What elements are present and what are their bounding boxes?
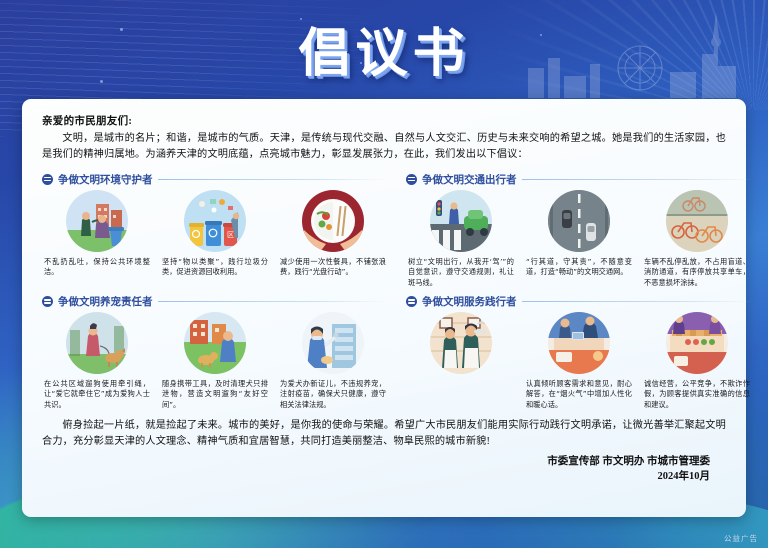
list-item[interactable]: 车辆不乱停乱放，不占用盲道、消防通道，有序停放共享单车，不恶意损坏涂抹。 [642, 190, 752, 288]
list-item[interactable] [406, 312, 516, 410]
park-litter-bin-icon [66, 190, 128, 252]
item-caption: 诚信经营，公平竞争，不欺诈作假，为顾客提供真实准确的信息和建议。 [644, 379, 750, 410]
item-caption: 为爱犬办新证儿，不违规养宠，注射疫苗，确保犬只健康，遵守相关法律法规。 [280, 379, 386, 410]
restaurant-staff-icon [430, 312, 492, 374]
list-item[interactable]: 随身携带工具，及时清理犬只排泄物，营造文明遛狗“友好空间”。 [160, 312, 270, 410]
item-caption: 坚持“物以类聚”，践行垃圾分类，促进资源回收利用。 [162, 257, 268, 278]
section-divider [158, 179, 389, 180]
dog-leash-walk-icon [66, 312, 128, 374]
item-caption: 减少使用一次性餐具，不铺张浪费，践行“光盘行动”。 [280, 257, 386, 278]
list-item[interactable]: 树立“文明出行，从我开‘驾’”的自觉意识，遵守交通规则，礼让斑马线。 [406, 190, 516, 288]
salutation: 亲爱的市民朋友们: [42, 113, 726, 128]
section-divider [158, 301, 389, 302]
clean-plate-icon [302, 190, 364, 252]
list-item[interactable]: 在公共区域遛狗使用牵引绳，让“爱它就牵住它”成为爱狗人士共识。 [42, 312, 152, 410]
section-header: 争做文明环境守护者 [42, 172, 388, 187]
list-item[interactable]: 诚信经营，公平竞争，不欺诈作假，为顾客提供真实准确的信息和建议。 [642, 312, 752, 410]
parked-bicycles-icon [666, 190, 728, 252]
section-service: 争做文明服务践行者 [406, 294, 752, 410]
section-divider [522, 179, 753, 180]
list-item[interactable]: 区 坚持“物以类聚”，践行垃圾分类，促进资源回收利用。 [160, 190, 270, 278]
section-title: 争做文明交通出行者 [422, 172, 517, 187]
list-badge-icon [406, 296, 417, 307]
poster-background: 倡议书 亲爱的市民朋友们: 文明，是城市的名片；和谐，是城市的气质。天津，是传统… [0, 0, 768, 548]
list-item[interactable]: 不乱扔乱吐，保持公共环境整洁。 [42, 190, 152, 278]
list-badge-icon [42, 174, 53, 185]
section-items: 认真倾听顾客需求和意见，耐心解答，在“烟火气”中增加人性化和暖心话。 [406, 312, 752, 410]
list-item[interactable]: 为爱犬办新证儿，不违规养宠，注射疫苗，确保犬只健康，遵守相关法律法规。 [278, 312, 388, 410]
list-badge-icon [406, 174, 417, 185]
content-card: 亲爱的市民朋友们: 文明，是城市的名片；和谐，是城市的气质。天津，是传统与现代交… [22, 99, 746, 517]
section-title: 争做文明服务践行者 [422, 294, 517, 309]
list-item[interactable]: “行其道，守其责”，不随意变道，打造“畅动”的文明交通网。 [524, 190, 634, 288]
honest-market-stall-icon [666, 312, 728, 374]
section-title: 争做文明养宠责任者 [58, 294, 153, 309]
closing-paragraph: 俯身捡起一片纸，就是捡起了未来。城市的美好，是你我的使命与荣耀。希望广大市民朋友… [42, 418, 726, 450]
crosswalk-car-icon [430, 190, 492, 252]
section-items: 在公共区域遛狗使用牵引绳，让“爱它就牵住它”成为爱狗人士共识。 [42, 312, 388, 410]
section-traffic: 争做文明交通出行者 [406, 172, 752, 288]
section-pets: 争做文明养宠责任者 [42, 294, 388, 410]
signature-organizations: 市委宣传部 市文明办 市城市管理委 [42, 454, 710, 469]
section-title: 争做文明环境守护者 [58, 172, 153, 187]
list-item[interactable]: 减少使用一次性餐具，不铺张浪费，践行“光盘行动”。 [278, 190, 388, 278]
section-environment: 争做文明环境守护者 [42, 172, 388, 288]
intro-paragraph: 文明，是城市的名片；和谐，是城市的气质。天津，是传统与现代交融、自然与人文交汇、… [42, 131, 726, 163]
road-lanes-icon [548, 190, 610, 252]
item-caption: 不乱扔乱吐，保持公共环境整洁。 [44, 257, 150, 278]
item-caption: “行其道，守其责”，不随意变道，打造“畅动”的文明交通网。 [526, 257, 632, 278]
item-caption: 认真倾听顾客需求和意见，耐心解答，在“烟火气”中增加人性化和暖心话。 [526, 379, 632, 410]
public-service-ad-note: 公益广告 [724, 533, 758, 544]
title-banner: 倡议书 [0, 8, 768, 88]
item-caption: 车辆不乱停乱放，不占用盲道、消防通道，有序停放共享单车，不恶意损坏涂抹。 [644, 257, 750, 288]
poster-title: 倡议书 [298, 11, 469, 86]
recycling-bins-icon: 区 [184, 190, 246, 252]
customer-service-desk-icon [548, 312, 610, 374]
svg-text:区: 区 [227, 231, 234, 239]
section-items: 树立“文明出行，从我开‘驾’”的自觉意识，遵守交通规则，礼让斑马线。 [406, 190, 752, 288]
item-caption: 树立“文明出行，从我开‘驾’”的自觉意识，遵守交通规则，礼让斑马线。 [408, 257, 514, 288]
sections-grid: 争做文明环境守护者 [42, 172, 726, 411]
dog-vaccination-icon [302, 312, 364, 374]
section-header: 争做文明服务践行者 [406, 294, 752, 309]
section-divider [522, 301, 753, 302]
item-caption: 随身携带工具，及时清理犬只排泄物，营造文明遛狗“友好空间”。 [162, 379, 268, 410]
section-header: 争做文明交通出行者 [406, 172, 752, 187]
signature-block: 市委宣传部 市文明办 市城市管理委 2024年10月 [42, 454, 726, 484]
dog-waste-cleanup-icon [184, 312, 246, 374]
item-caption: 在公共区域遛狗使用牵引绳，让“爱它就牵住它”成为爱狗人士共识。 [44, 379, 150, 410]
list-item[interactable]: 认真倾听顾客需求和意见，耐心解答，在“烟火气”中增加人性化和暖心话。 [524, 312, 634, 410]
signature-date: 2024年10月 [42, 469, 710, 484]
section-items: 不乱扔乱吐，保持公共环境整洁。 [42, 190, 388, 278]
section-header: 争做文明养宠责任者 [42, 294, 388, 309]
list-badge-icon [42, 296, 53, 307]
